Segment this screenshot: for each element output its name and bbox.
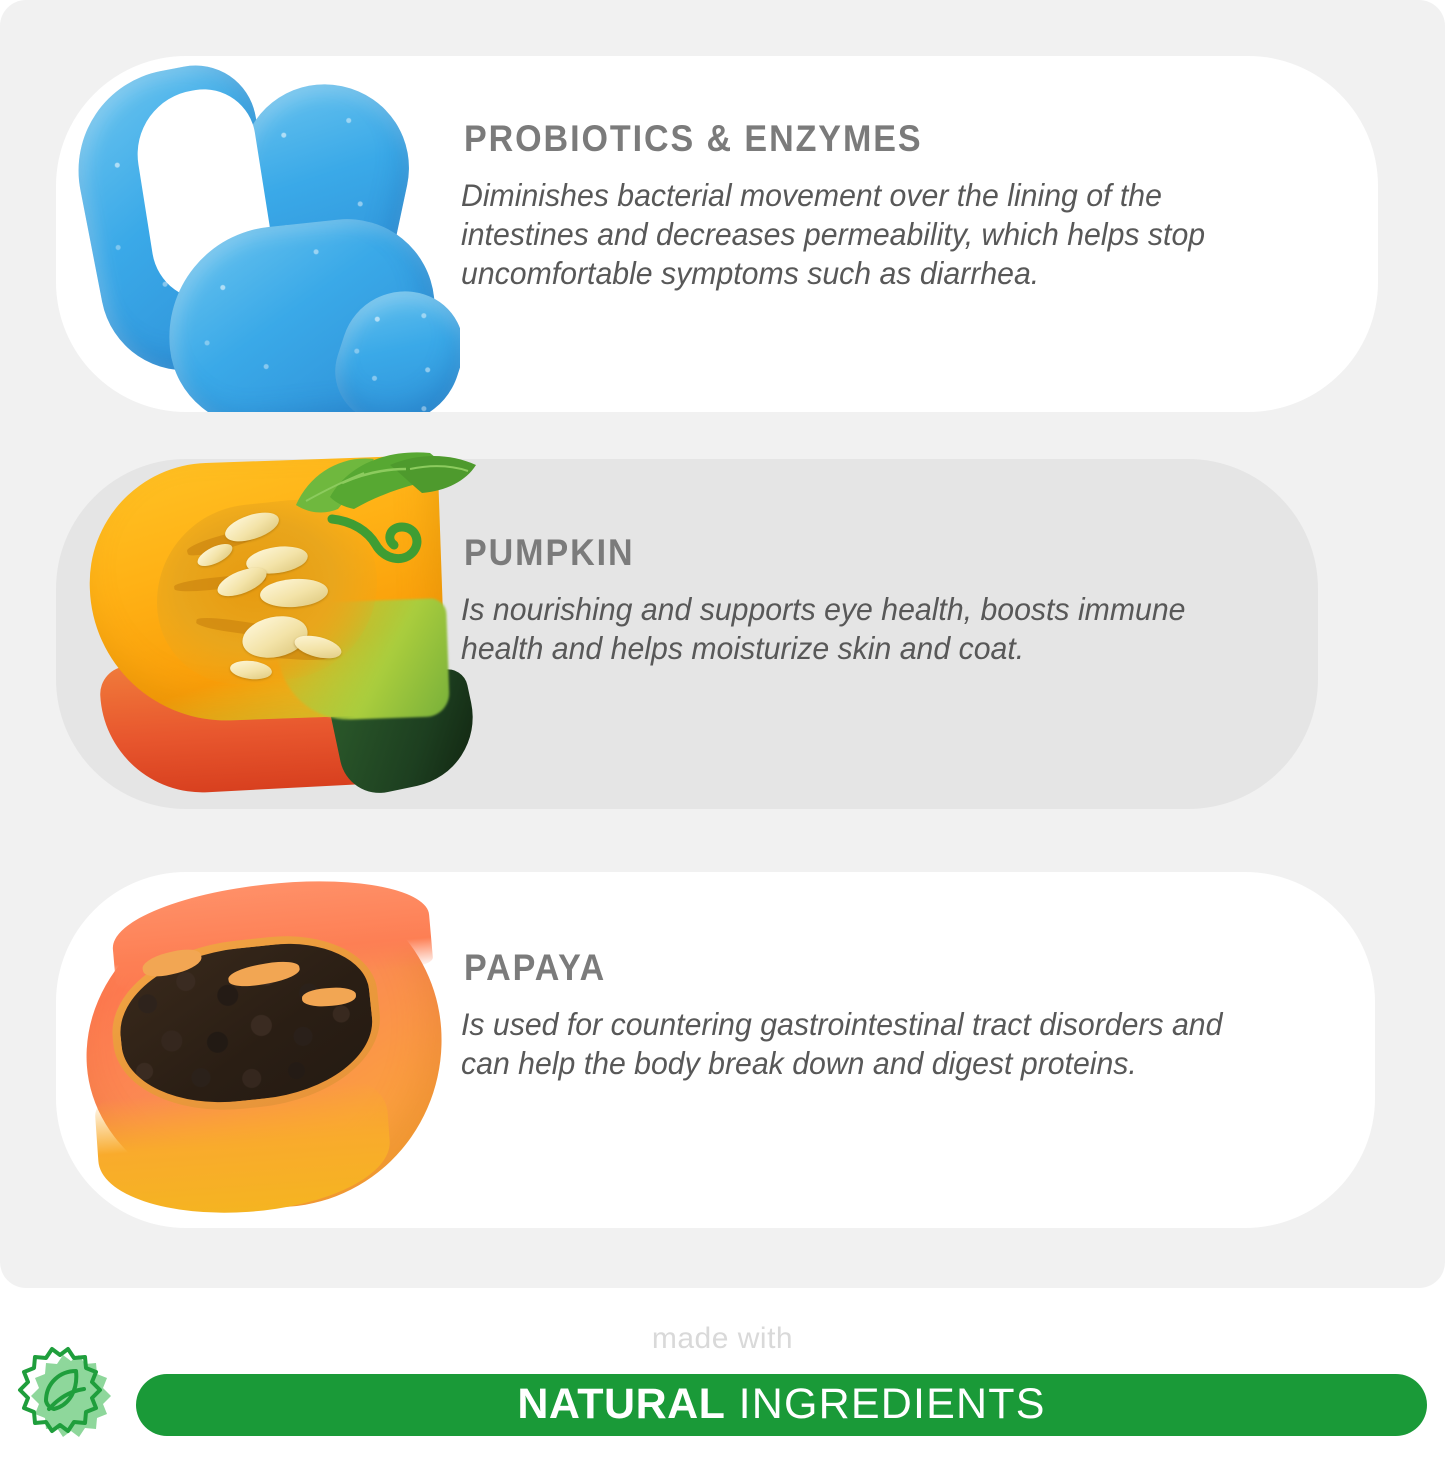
pumpkin-half-photo	[46, 451, 486, 817]
ingredient-card-pumpkin: PUMPKIN Is nourishing and supports eye h…	[56, 459, 1318, 809]
card-description: Diminishes bacterial movement over the l…	[461, 176, 1239, 293]
card-description: Is used for countering gastrointestinal …	[461, 1005, 1239, 1083]
ingredient-card-probiotics-enzymes: PROBIOTICS & ENZYMES Diminishes bacteria…	[56, 56, 1378, 412]
card-title: PUMPKIN	[464, 532, 1206, 574]
card-title: PAPAYA	[464, 947, 1206, 989]
ingredients-panel: PROBIOTICS & ENZYMES Diminishes bacteria…	[0, 0, 1445, 1288]
made-with-label: made with	[0, 1322, 1445, 1356]
card-description: Is nourishing and supports eye health, b…	[461, 590, 1239, 668]
probiotic-bacteria-illustration	[40, 56, 460, 412]
ingredient-card-papaya: PAPAYA Is used for countering gastrointe…	[56, 872, 1375, 1228]
leaf-icon	[290, 447, 480, 577]
banner-light-word: INGREDIENTS	[725, 1380, 1045, 1428]
papaya-half-photo	[50, 878, 470, 1226]
natural-leaf-seal-icon	[8, 1345, 124, 1461]
natural-ingredients-banner: NATURAL INGREDIENTS	[136, 1374, 1427, 1436]
banner-strong-word: NATURAL	[517, 1380, 725, 1428]
banner-text: NATURAL INGREDIENTS	[517, 1383, 1045, 1426]
card-text-block: PAPAYA Is used for countering gastrointe…	[461, 947, 1271, 1083]
pumpkin-leaf-and-tendril	[290, 447, 480, 577]
card-title: PROBIOTICS & ENZYMES	[464, 118, 1206, 160]
card-text-block: PUMPKIN Is nourishing and supports eye h…	[461, 532, 1271, 668]
card-text-block: PROBIOTICS & ENZYMES Diminishes bacteria…	[461, 118, 1271, 293]
